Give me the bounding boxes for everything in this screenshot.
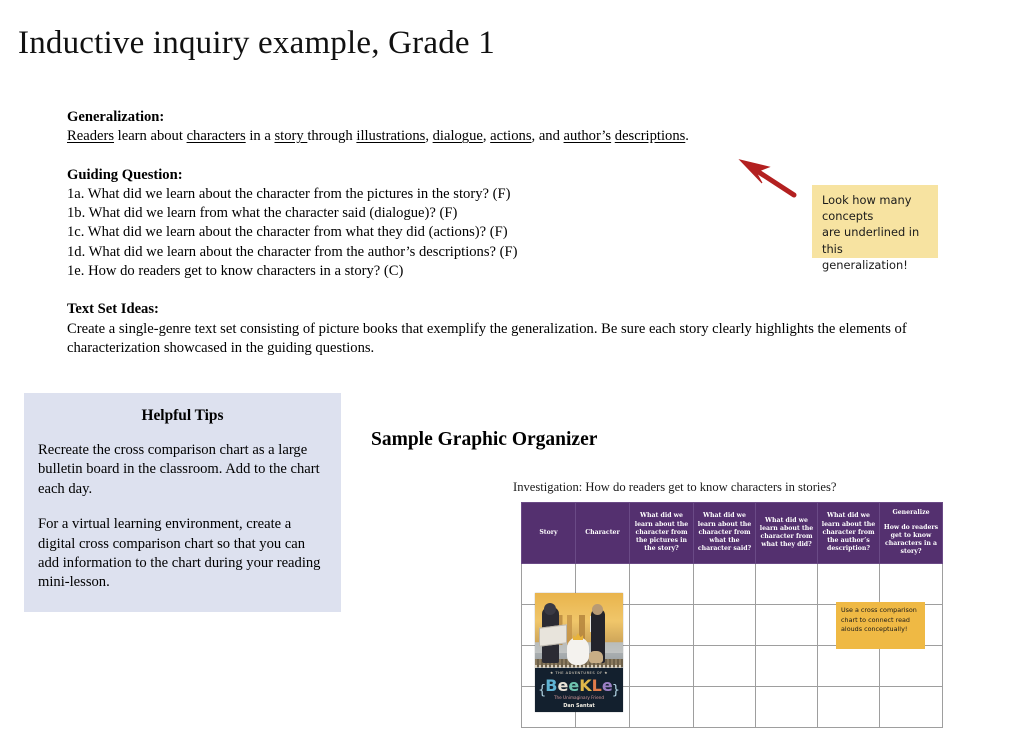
guiding-question-heading: Guiding Question: [67,166,947,185]
underlined-concept: dialogue [433,128,483,144]
table-cell[interactable] [630,687,694,728]
underlined-concept: characters [187,128,246,144]
column-header-actions: What did we learn about the character fr… [756,503,818,564]
table-cell[interactable] [880,646,943,687]
sticky-note-line: this [822,241,928,257]
cover-bracket-left: { [538,683,546,698]
cover-figure-left-head [544,603,556,615]
column-header-label: Generalize [892,509,929,516]
investigation-label: Investigation: How do readers get to kno… [513,479,837,495]
text-set-ideas-heading: Text Set Ideas: [67,300,947,319]
guiding-question-item: 1e. How do readers get to know character… [67,262,947,281]
sentence-text: , and [532,128,564,144]
underlined-concept: story [274,128,307,144]
generalization-sentence: Readers learn about characters in a stor… [67,127,947,146]
spacer [67,147,947,166]
column-header-label: Character [585,529,620,536]
red-arrow-icon [730,150,810,205]
cover-figure-right-head [592,604,603,615]
column-header-character: Character [576,503,630,564]
underlined-concept: author’s [564,128,612,144]
table-cell[interactable] [694,605,756,646]
column-header-dialogue: What did we learn about the character fr… [694,503,756,564]
book-cover-image-beekle: ★ THE ADVENTURES OF ★ BeeKLe The Unimagi… [535,593,623,712]
helpful-tips-title: Helpful Tips [38,405,327,427]
column-header-label: Story [539,529,557,536]
column-header-generalize: Generalize How do readers get to know ch… [880,503,943,564]
table-header-row: Story Character What did we learn about … [522,503,943,564]
table-cell[interactable] [880,687,943,728]
sentence-text: through [307,128,356,144]
text-set-ideas-body: Create a single-genre text set consistin… [67,320,947,359]
cover-title-band: ★ THE ADVENTURES OF ★ BeeKLe The Unimagi… [535,668,623,712]
cover-title-letter: e [558,676,569,695]
table-cell[interactable] [756,605,818,646]
column-header-label: What did we learn about the character fr… [760,517,813,549]
table-cell[interactable] [756,646,818,687]
cover-title-letter: L [592,676,602,695]
generalization-heading: Generalization: [67,108,947,127]
sticky-note-line: concepts [822,208,928,224]
sticky-note-line: Look how many [822,192,928,208]
sticky-note-organizer: Use a cross comparison chart to connect … [836,602,925,649]
sentence-text: in a [246,128,275,144]
cover-eyebrow: ★ THE ADVENTURES OF ★ [535,671,623,675]
table-cell[interactable] [880,564,943,605]
cover-title-letter: e [568,676,579,695]
column-header-sublabel: How do readers get to know characters in… [882,524,940,557]
underlined-concept: descriptions [615,128,686,144]
table-cell[interactable] [694,646,756,687]
document-page: Inductive inquiry example, Grade 1 Gener… [0,0,1024,744]
table-cell[interactable] [756,687,818,728]
organizer-title: Sample Graphic Organizer [371,428,597,452]
page-title: Inductive inquiry example, Grade 1 [18,22,495,64]
sentence-text: . [685,128,689,144]
cover-author: Dan Santat [535,703,623,709]
cover-title: BeeKLe [535,677,623,694]
underlined-concept: illustrations [356,128,425,144]
sentence-text: learn about [114,128,187,144]
column-header-label: What did we learn about the character fr… [822,512,875,552]
cover-beekle-character [567,637,589,665]
spacer [67,281,947,300]
helpful-tips-paragraph: For a virtual learning environment, crea… [38,515,327,593]
sentence-text: , [425,128,432,144]
column-header-pictures: What did we learn about the character fr… [630,503,694,564]
column-header-label: What did we learn about the character fr… [635,512,688,552]
table-cell[interactable] [756,564,818,605]
cover-title-letter: K [579,676,591,695]
cover-bracket-right: } [612,683,620,698]
sticky-note-line: are underlined in [822,224,928,240]
table-cell[interactable] [630,646,694,687]
table-cell[interactable] [694,687,756,728]
column-header-author-description: What did we learn about the character fr… [818,503,880,564]
helpful-tips-box: Helpful Tips Recreate the cross comparis… [24,393,341,612]
table-cell[interactable] [630,605,694,646]
table-cell[interactable] [818,564,880,605]
cover-newspaper [539,624,567,646]
sticky-note-generalization: Look how many concepts are underlined in… [812,185,938,258]
sticky-note-overflow-line: generalization! [822,257,908,273]
underlined-concept: actions [490,128,531,144]
table-cell[interactable] [818,687,880,728]
helpful-tips-paragraph: Recreate the cross comparison chart as a… [38,441,327,499]
column-header-label: What did we learn about the character fr… [698,512,751,552]
cover-dog [589,651,603,663]
table-cell[interactable] [630,564,694,605]
sticky-note-lines: Look how many concepts are underlined in… [822,192,928,258]
underlined-concept: Readers [67,128,114,144]
cover-title-letter: B [545,676,557,695]
table-cell[interactable] [818,646,880,687]
cover-subtitle: The Unimaginary Friend [535,695,623,700]
table-cell[interactable] [694,564,756,605]
column-header-story: Story [522,503,576,564]
